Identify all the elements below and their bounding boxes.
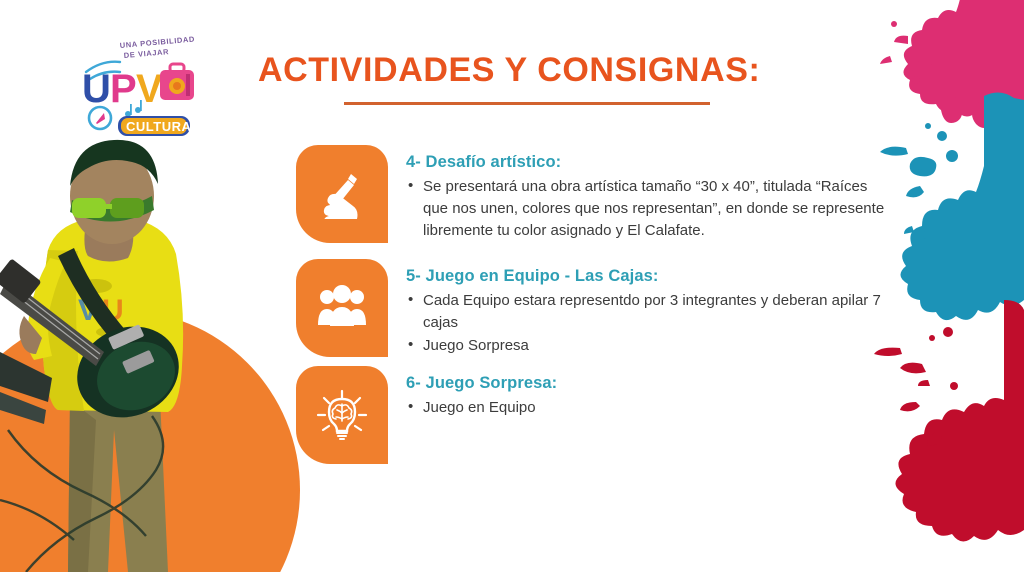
svg-text:CULTURA: CULTURA bbox=[126, 119, 191, 134]
section-icon-badge bbox=[296, 145, 388, 243]
title-block: ACTIVIDADES Y CONSIGNAS: bbox=[258, 52, 818, 105]
section-body: 4- Desafío artístico: Se presentará una … bbox=[388, 145, 896, 243]
section-heading: 6- Juego Sorpresa: bbox=[406, 374, 896, 394]
section-heading: 5- Juego en Equipo - Las Cajas: bbox=[406, 267, 896, 287]
section-bullets: Cada Equipo estara representdo por 3 int… bbox=[406, 290, 896, 357]
section-bullets: Se presentará una obra artística tamaño … bbox=[406, 176, 896, 242]
group-of-people-icon bbox=[316, 285, 368, 331]
bullet-item: Juego Sorpresa bbox=[406, 335, 896, 357]
teal-splatter bbox=[880, 92, 1024, 320]
sections-list: 4- Desafío artístico: Se presentará una … bbox=[296, 145, 896, 464]
section-icon-badge bbox=[296, 366, 388, 464]
red-splatter bbox=[874, 300, 1024, 542]
title-underline bbox=[344, 102, 710, 105]
section-item: 5- Juego en Equipo - Las Cajas: Cada Equ… bbox=[296, 259, 896, 358]
page-title: ACTIVIDADES Y CONSIGNAS: bbox=[258, 52, 818, 89]
section-item: 6- Juego Sorpresa: Juego en Equipo bbox=[296, 366, 896, 464]
bullet-item: Se presentará una obra artística tamaño … bbox=[406, 176, 896, 242]
section-body: 5- Juego en Equipo - Las Cajas: Cada Equ… bbox=[388, 259, 896, 358]
svg-text:U: U bbox=[82, 67, 110, 111]
cultura-ribbon: CULTURA bbox=[118, 116, 191, 136]
lightbulb-brain-icon bbox=[316, 389, 368, 441]
pink-splatter bbox=[880, 0, 1024, 128]
upv-cultura-logo: UNA POSIBILIDAD DE VIAJAR U P V bbox=[74, 36, 202, 140]
section-item: 4- Desafío artístico: Se presentará una … bbox=[296, 145, 896, 243]
section-heading: 4- Desafío artístico: bbox=[406, 153, 896, 173]
suitcase-icon bbox=[160, 64, 194, 100]
logo-tagline: UNA POSIBILIDAD DE VIAJAR bbox=[119, 36, 195, 60]
slide-canvas: V U bbox=[0, 0, 1024, 572]
bullet-item: Juego en Equipo bbox=[406, 397, 896, 419]
section-body: 6- Juego Sorpresa: Juego en Equipo bbox=[388, 366, 896, 420]
section-bullets: Juego en Equipo bbox=[406, 397, 896, 419]
svg-text:P: P bbox=[110, 67, 136, 111]
bullet-item: Cada Equipo estara representdo por 3 int… bbox=[406, 290, 896, 334]
hand-holding-pencil-icon bbox=[317, 169, 367, 219]
section-icon-badge bbox=[296, 259, 388, 357]
